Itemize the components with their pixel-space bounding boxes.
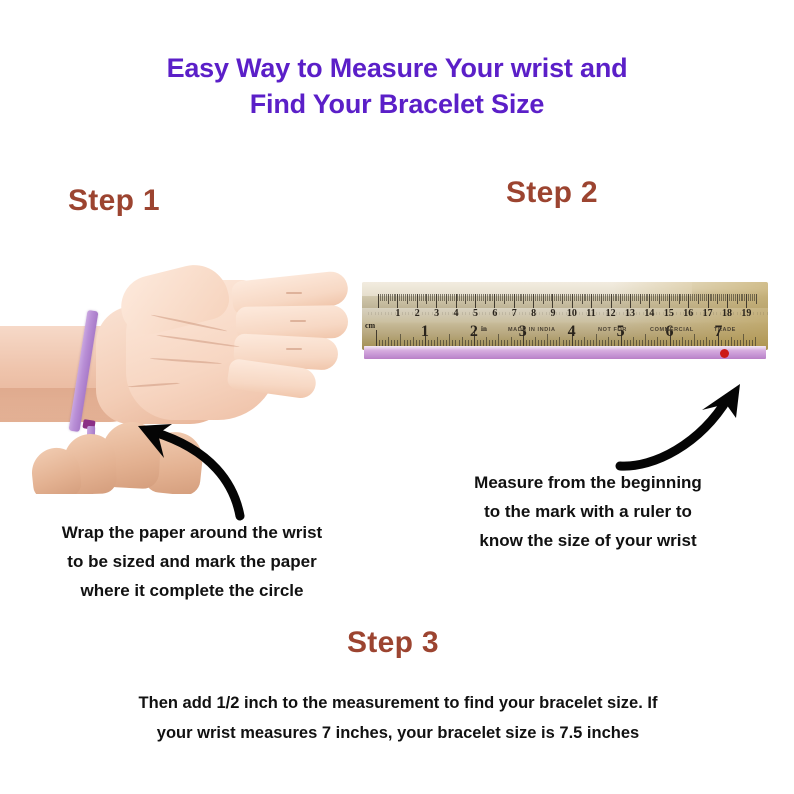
ruler-over-paper-strip-photo: 12345678910111213141516171819 1234567 cm…: [362, 280, 770, 364]
arrow-to-wrist-mark: [128, 410, 258, 520]
knuckle-line: [290, 320, 306, 322]
ruler-cm-label: 1: [395, 309, 400, 319]
step-1-caption-line-2: to be sized and mark the paper: [6, 547, 378, 576]
ruler-unit-label-cm: cm: [365, 322, 375, 330]
ruler-cm-ticks: [362, 294, 768, 308]
ruler-cm-label: 15: [664, 309, 674, 319]
ruler-inch-label: 2: [470, 324, 478, 340]
ruler-cm-label: 10: [567, 309, 577, 319]
step-3-heading: Step 3: [347, 626, 439, 660]
page-title-line-2: Find Your Bracelet Size: [0, 86, 794, 122]
step-3-caption-line-1: Then add 1/2 inch to the measurement to …: [60, 688, 736, 718]
step-3-caption-line-2: your wrist measures 7 inches, your brace…: [60, 718, 736, 748]
ruler-cm-label: 6: [492, 309, 497, 319]
step-2-caption-line-2: to the mark with a ruler to: [398, 497, 778, 526]
ruler-cm-label: 16: [683, 309, 693, 319]
ruler-cm-label: 19: [741, 309, 751, 319]
step-1-caption-line-3: where it complete the circle: [6, 576, 378, 605]
ruler-cm-label: 4: [454, 309, 459, 319]
ruler-cm-label: 7: [512, 309, 517, 319]
ruler-cm-label: 3: [434, 309, 439, 319]
step-2-caption-line-1: Measure from the beginning: [398, 468, 778, 497]
ruler-inch-label: 1: [421, 324, 429, 340]
ruler-brand-trade: TRADE: [714, 327, 736, 333]
ruler-cm-label: 18: [722, 309, 732, 319]
ruler-unit-label-in: in: [481, 326, 487, 333]
paper-strip-highlight: [364, 346, 766, 350]
page-title-line-1: Easy Way to Measure Your wrist and: [0, 50, 794, 86]
infographic-page: Easy Way to Measure Your wrist and Find …: [0, 0, 794, 794]
ruler-brand-not-for: NOT FOR: [598, 327, 627, 333]
step-1-caption: Wrap the paper around the wrist to be si…: [6, 518, 378, 605]
ruler-inch-label: 4: [568, 324, 576, 340]
step-2-caption-line-3: know the size of your wrist: [398, 526, 778, 555]
knuckle-line: [286, 292, 302, 294]
ruler-brand-made-in-india: MADE IN INDIA: [508, 327, 556, 333]
arrow-to-ruler-mark: [614, 376, 754, 476]
ruler-cm-label: 11: [586, 309, 595, 319]
ruler-brand-commercial: COMMERCIAL: [650, 327, 694, 333]
ruler-cm-label: 2: [415, 309, 420, 319]
ruler-cm-label: 12: [606, 309, 616, 319]
step-2-caption: Measure from the beginning to the mark w…: [398, 468, 778, 555]
step-1-caption-line-1: Wrap the paper around the wrist: [6, 518, 378, 547]
step-3-caption: Then add 1/2 inch to the measurement to …: [60, 688, 736, 748]
ruler-cm-label: 13: [625, 309, 635, 319]
ruler-cm-label: 8: [531, 309, 536, 319]
page-title: Easy Way to Measure Your wrist and Find …: [0, 50, 794, 122]
ruler-cm-label: 5: [473, 309, 478, 319]
ruler-cm-label: 17: [703, 309, 713, 319]
ruler-cm-label: 14: [644, 309, 654, 319]
step-1-heading: Step 1: [68, 184, 160, 218]
ruler-cm-label: 9: [550, 309, 555, 319]
knuckle-line: [286, 348, 302, 350]
ruler-body: 12345678910111213141516171819 1234567 cm…: [362, 282, 768, 350]
step-2-heading: Step 2: [506, 176, 598, 210]
